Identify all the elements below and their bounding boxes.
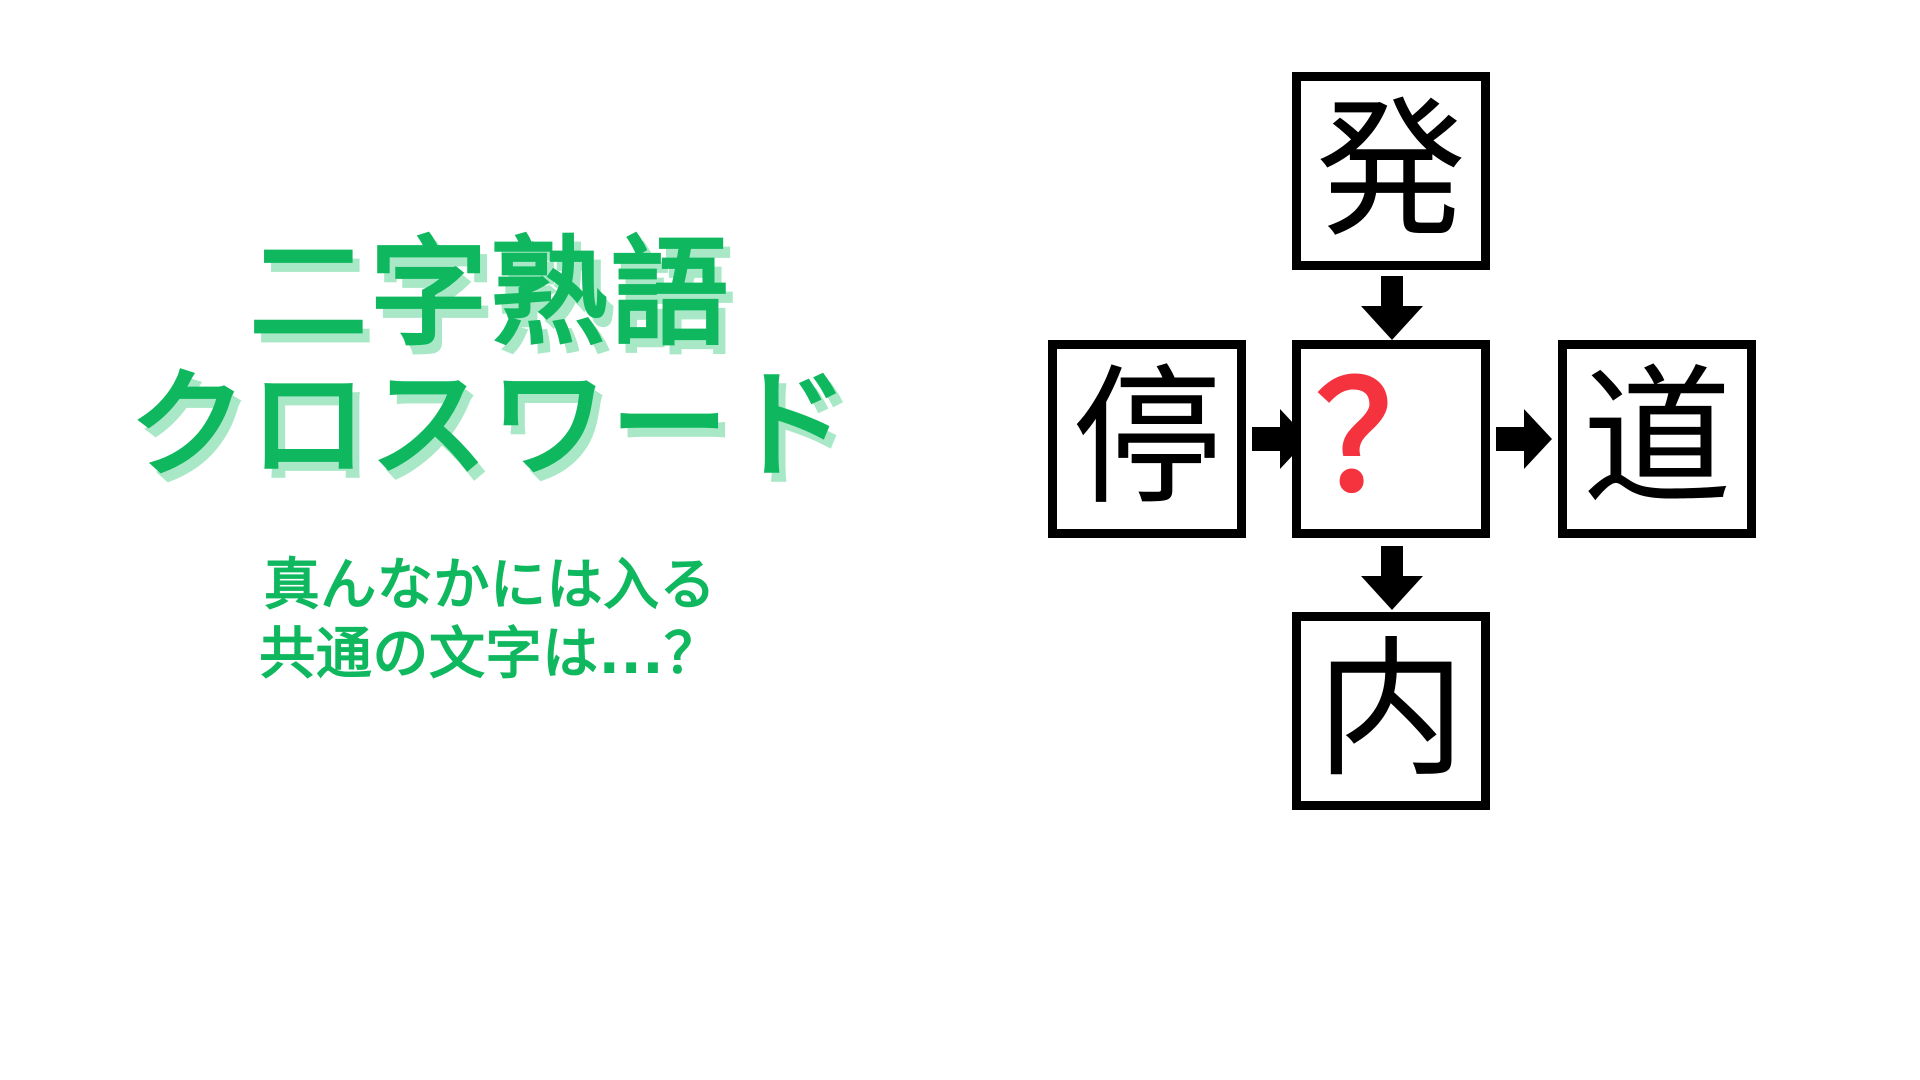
kanji-glyph-right: 道	[1582, 364, 1732, 514]
page-title-line-1: 二字熟語	[0, 230, 980, 356]
page-title-line-2: クロスワード	[0, 362, 980, 488]
crossword-grid: 発 停 ？ 道	[960, 0, 1920, 1080]
crossword-cell-right[interactable]: 道	[1558, 340, 1756, 538]
slide-canvas: 二字熟語 クロスワード 真んなかには入る 共通の文字は...？ 発 停	[0, 0, 1920, 1080]
question-mark-glyph: ？	[1316, 364, 1466, 514]
arrow-right-icon	[1496, 406, 1554, 472]
arrow-down-icon	[1356, 276, 1428, 342]
subtitle-line-2: 共通の文字は...？	[0, 620, 980, 689]
kanji-glyph-left: 停	[1072, 364, 1222, 514]
crossword-cell-center-unknown[interactable]: ？	[1292, 340, 1490, 538]
crossword-cell-top[interactable]: 発	[1292, 72, 1490, 270]
subtitle: 真んなかには入る 共通の文字は...？	[0, 551, 980, 690]
crossword-cell-bottom[interactable]: 内	[1292, 612, 1490, 810]
arrow-down-icon	[1356, 546, 1428, 612]
crossword-cell-left[interactable]: 停	[1048, 340, 1246, 538]
kanji-glyph-top: 発	[1316, 96, 1466, 246]
subtitle-line-1: 真んなかには入る	[0, 551, 980, 620]
title-panel: 二字熟語 クロスワード 真んなかには入る 共通の文字は...？	[0, 230, 980, 689]
kanji-glyph-bottom: 内	[1316, 636, 1466, 786]
